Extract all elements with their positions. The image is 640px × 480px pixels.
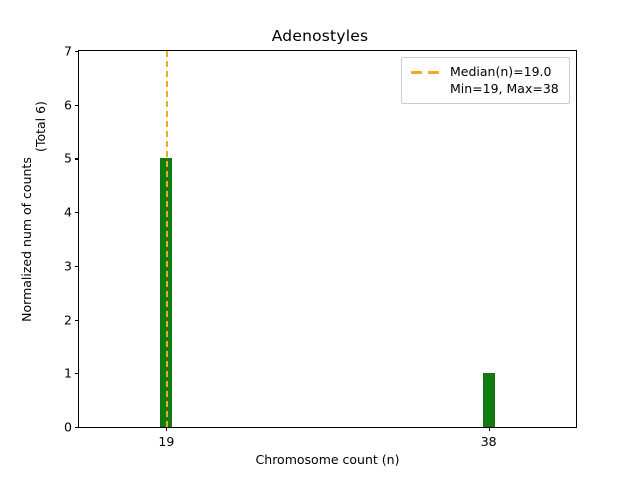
y-tick-mark bbox=[75, 158, 79, 159]
chart-title: Adenostyles bbox=[0, 27, 640, 45]
y-axis-total-label-text: (Total 6) bbox=[33, 101, 48, 152]
y-tick-mark bbox=[75, 427, 79, 428]
x-tick-mark bbox=[166, 427, 167, 431]
y-tick-mark bbox=[75, 266, 79, 267]
y-tick-mark bbox=[75, 51, 79, 52]
y-tick-mark bbox=[75, 212, 79, 213]
y-tick-label: 4 bbox=[64, 205, 72, 220]
figure: Adenostyles Normalized num of counts (To… bbox=[0, 0, 640, 480]
plot-inner bbox=[79, 51, 576, 427]
y-tick-label: 6 bbox=[64, 97, 72, 112]
y-tick-label: 5 bbox=[64, 151, 72, 166]
y-tick-mark bbox=[75, 373, 79, 374]
x-axis-label: Chromosome count (n) bbox=[78, 452, 577, 467]
legend-entry-median: Median(n)=19.0 bbox=[450, 64, 559, 80]
y-tick-mark bbox=[75, 320, 79, 321]
x-tick-label: 38 bbox=[481, 434, 497, 449]
y-tick-label: 7 bbox=[64, 44, 72, 59]
y-axis-total-label: (Total 6) bbox=[30, 96, 50, 156]
plot-area: 012345671938 bbox=[78, 50, 577, 428]
x-tick-mark bbox=[489, 427, 490, 431]
y-tick-label: 1 bbox=[64, 366, 72, 381]
median-line-annotation bbox=[166, 51, 168, 427]
median-line-swatch-icon bbox=[410, 64, 442, 81]
legend: Median(n)=19.0 Min=19, Max=38 bbox=[401, 57, 570, 104]
legend-labels: Median(n)=19.0 Min=19, Max=38 bbox=[450, 64, 559, 97]
y-tick-label: 0 bbox=[64, 420, 72, 435]
y-tick-label: 3 bbox=[64, 258, 72, 273]
bar bbox=[483, 373, 495, 427]
x-tick-label: 19 bbox=[158, 434, 174, 449]
y-axis-label-text: Normalized num of counts bbox=[19, 157, 34, 322]
legend-entry-minmax: Min=19, Max=38 bbox=[450, 81, 559, 97]
y-tick-mark bbox=[75, 105, 79, 106]
y-tick-label: 2 bbox=[64, 312, 72, 327]
